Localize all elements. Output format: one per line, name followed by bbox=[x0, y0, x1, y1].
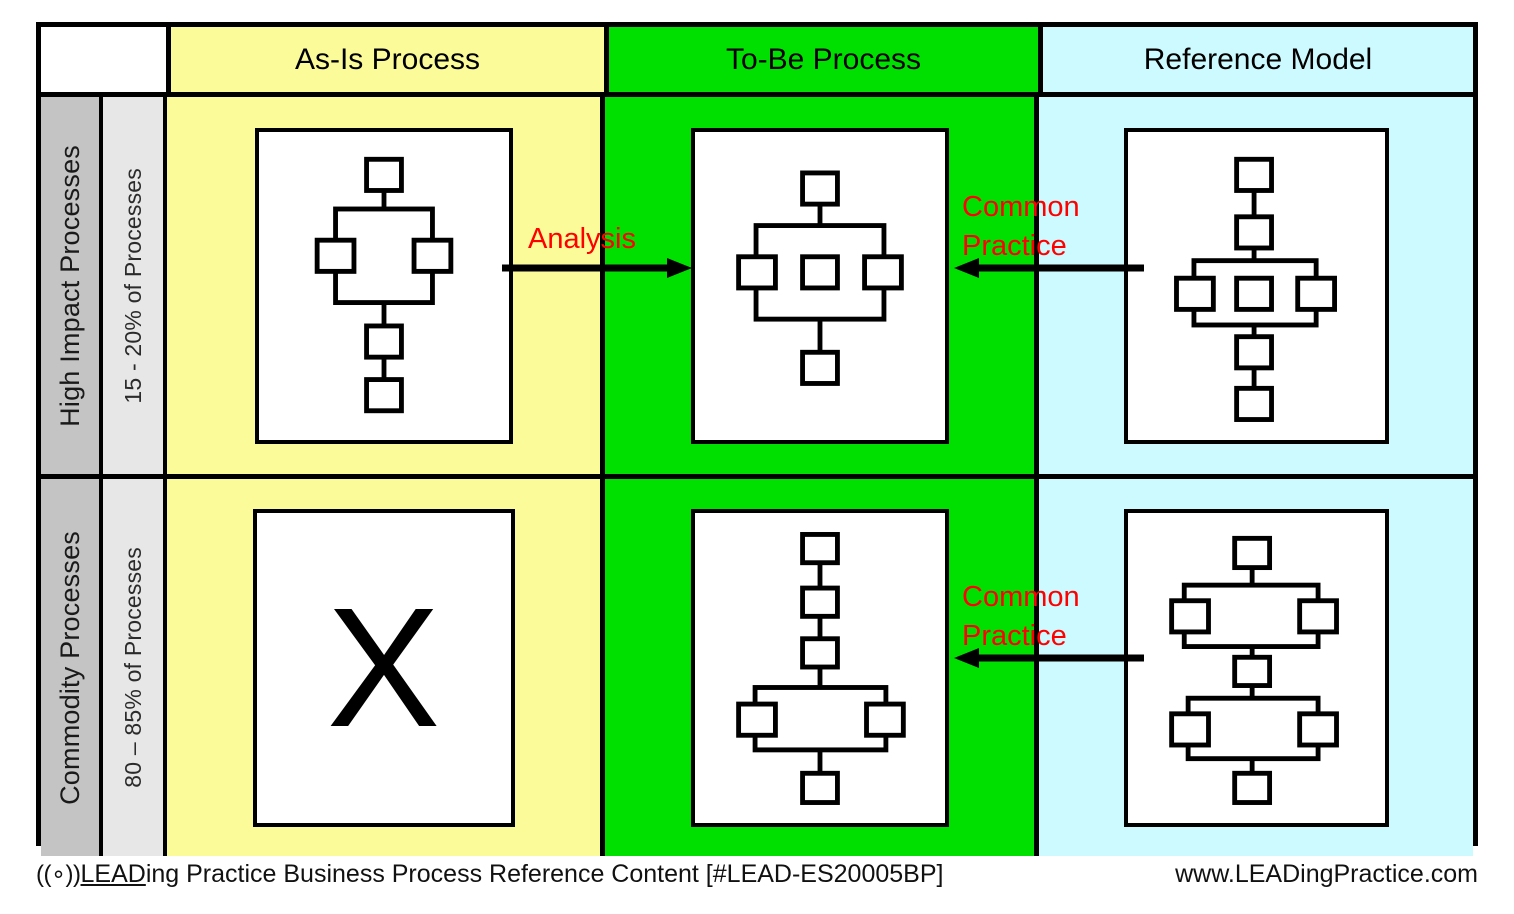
row-label-high-impact-processes: High Impact Processes bbox=[41, 97, 103, 474]
analysis-arrow-label: Analysis bbox=[528, 220, 636, 259]
x-mark-icon: X bbox=[327, 583, 440, 753]
cell-reference-commodity bbox=[1039, 479, 1473, 856]
cell-as-is-commodity: X bbox=[167, 479, 605, 856]
header-blank-cell bbox=[41, 27, 171, 97]
header-as-is-process: As-Is Process bbox=[171, 27, 609, 97]
cell-to-be-commodity bbox=[605, 479, 1039, 856]
diagram-to-be-high-impact bbox=[691, 128, 949, 444]
cell-as-is-high-impact bbox=[167, 97, 605, 474]
cell-to-be-high-impact bbox=[605, 97, 1039, 474]
footer-brand: LEAD bbox=[81, 860, 146, 889]
diagram-to-be-commodity bbox=[691, 509, 949, 827]
row-label-commodity-processes: Commodity Processes bbox=[41, 479, 103, 856]
row-sublabel-commodity-percentage: 80 – 85% of Processes bbox=[103, 479, 167, 856]
page-footer: ((∘))LEADing Practice Business Process R… bbox=[0, 860, 1514, 914]
row-sublabel-text: 15 - 20% of Processes bbox=[120, 168, 147, 404]
diagram-as-is-high-impact bbox=[255, 128, 513, 444]
row-label-text: High Impact Processes bbox=[55, 145, 86, 427]
row-sublabel-high-impact-percentage: 15 - 20% of Processes bbox=[103, 97, 167, 474]
row-sublabel-text: 80 – 85% of Processes bbox=[120, 547, 147, 788]
footer-credit-text: ing Practice Business Process Reference … bbox=[146, 860, 944, 889]
matrix-header-row: As-Is Process To-Be Process Reference Mo… bbox=[41, 27, 1473, 97]
footer-website-url[interactable]: www.LEADingPractice.com bbox=[1175, 860, 1478, 889]
header-reference-model: Reference Model bbox=[1043, 27, 1473, 97]
diagram-reference-high-impact bbox=[1124, 128, 1389, 444]
matrix-row-high-impact: High Impact Processes 15 - 20% of Proces… bbox=[41, 97, 1473, 479]
matrix-row-commodity: Commodity Processes 80 – 85% of Processe… bbox=[41, 479, 1473, 856]
diagram-reference-commodity bbox=[1124, 509, 1389, 827]
cell-reference-high-impact bbox=[1039, 97, 1473, 474]
common-practice-row2-label: Common Practice bbox=[962, 578, 1080, 656]
leading-practice-logo-icon: ((∘)) bbox=[36, 860, 81, 889]
diagram-as-is-commodity-none: X bbox=[253, 509, 515, 827]
row-label-text: Commodity Processes bbox=[55, 531, 86, 805]
footer-credit: ((∘))LEADing Practice Business Process R… bbox=[36, 860, 943, 889]
common-practice-row1-label: Common Practice bbox=[962, 188, 1080, 266]
header-to-be-process: To-Be Process bbox=[609, 27, 1043, 97]
reference-matrix-page: As-Is Process To-Be Process Reference Mo… bbox=[0, 0, 1514, 914]
process-matrix: As-Is Process To-Be Process Reference Mo… bbox=[36, 22, 1478, 846]
